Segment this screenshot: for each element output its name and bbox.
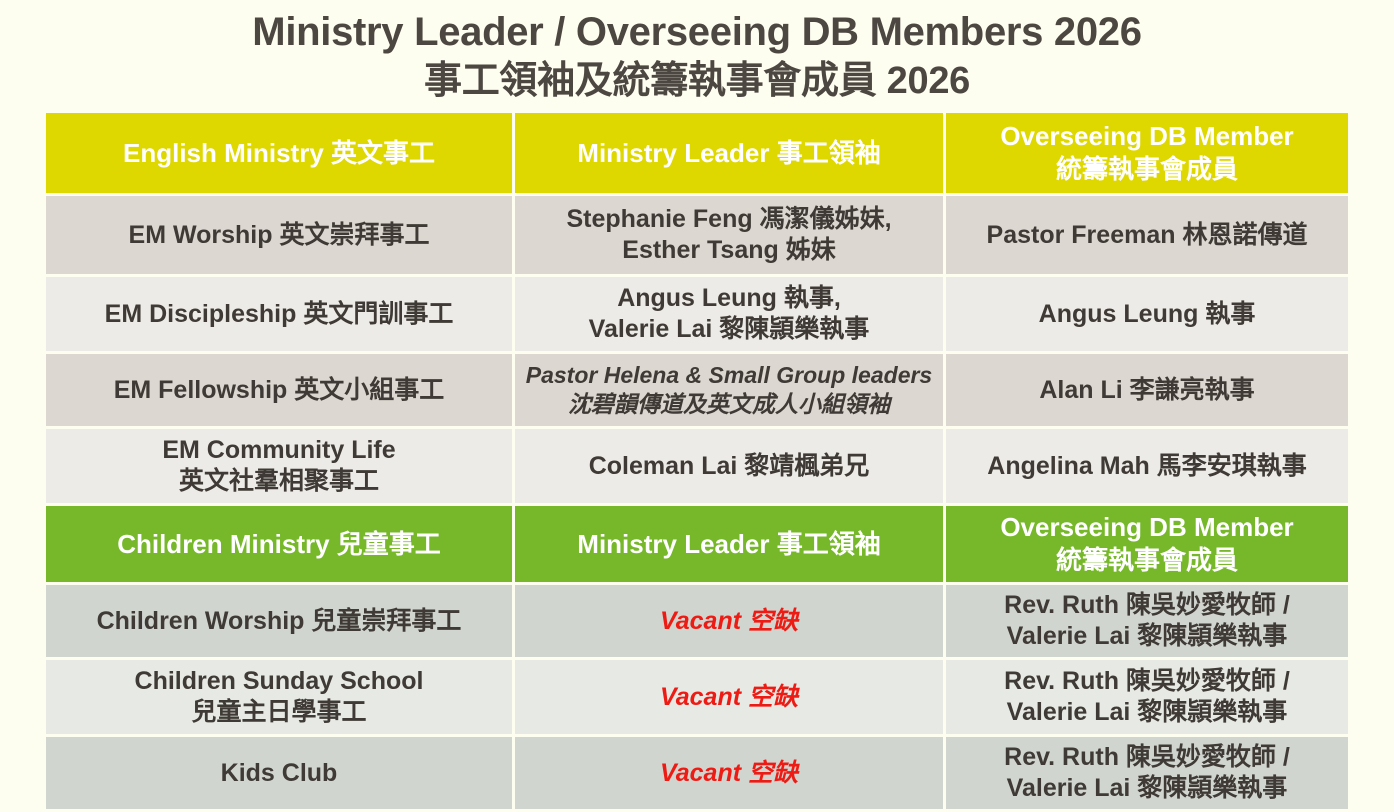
db-line-1: Rev. Ruth 陳吳妙愛牧師 / (954, 666, 1340, 697)
ministry-line-2: 兒童主日學事工 (54, 697, 504, 728)
status-badge-vacant: Vacant 空缺 (660, 607, 798, 635)
leader-line-1: Pastor Helena & Small Group leaders (523, 361, 935, 390)
table-row: EM Community Life 英文社羣相聚事工 Coleman Lai 黎… (46, 429, 1348, 503)
header-cell-ministry-leader: Ministry Leader 事工領袖 (515, 506, 943, 582)
ministry-table: English Ministry 英文事工 Ministry Leader 事工… (43, 110, 1351, 812)
leader-line-2: 沈碧韻傳道及英文成人小組領袖 (523, 390, 935, 419)
db-line-2: Valerie Lai 黎陳頴樂執事 (954, 773, 1340, 804)
cell-ministry-leader: Vacant 空缺 (515, 737, 943, 809)
leader-line-2: Esther Tsang 姊妹 (523, 235, 935, 266)
page-title-chinese: 事工領袖及統籌執事會成員 2026 (0, 58, 1394, 104)
ministry-line-1: Children Sunday School (54, 666, 504, 697)
ministry-line-1: EM Community Life (54, 435, 504, 466)
slide-canvas: Ministry Leader / Overseeing DB Members … (0, 0, 1394, 784)
leader-line-2: Valerie Lai 黎陳頴樂執事 (523, 314, 935, 345)
cell-ministry-name: Children Worship 兒童崇拜事工 (46, 585, 512, 657)
ministry-line-2: 英文社羣相聚事工 (54, 466, 504, 497)
header-cell-ministry-leader: Ministry Leader 事工領袖 (515, 113, 943, 193)
cell-db-member: Rev. Ruth 陳吳妙愛牧師 / Valerie Lai 黎陳頴樂執事 (946, 585, 1348, 657)
db-line-1: Rev. Ruth 陳吳妙愛牧師 / (954, 590, 1340, 621)
table-row: Children Worship 兒童崇拜事工 Vacant 空缺 Rev. R… (46, 585, 1348, 657)
leader-line-1: Angus Leung 執事, (523, 283, 935, 314)
table-row: EM Discipleship 英文門訓事工 Angus Leung 執事, V… (46, 277, 1348, 351)
cell-ministry-name: Children Sunday School 兒童主日學事工 (46, 660, 512, 734)
status-badge-vacant: Vacant 空缺 (660, 683, 798, 711)
cell-ministry-name: EM Worship 英文崇拜事工 (46, 196, 512, 274)
cell-ministry-leader: Stephanie Feng 馮潔儀姊妹, Esther Tsang 姊妹 (515, 196, 943, 274)
cell-db-member: Angus Leung 執事 (946, 277, 1348, 351)
header-db-line-zh: 統籌執事會成員 (954, 544, 1340, 577)
header-cell-children-ministry: Children Ministry 兒童事工 (46, 506, 512, 582)
db-line-2: Valerie Lai 黎陳頴樂執事 (954, 621, 1340, 652)
cell-db-member: Angelina Mah 馬李安琪執事 (946, 429, 1348, 503)
cell-ministry-leader: Vacant 空缺 (515, 660, 943, 734)
table-row: Kids Club Vacant 空缺 Rev. Ruth 陳吳妙愛牧師 / V… (46, 737, 1348, 809)
status-badge-vacant: Vacant 空缺 (660, 759, 798, 787)
header-db-line-en: Overseeing DB Member (954, 511, 1340, 544)
header-cell-english-ministry: English Ministry 英文事工 (46, 113, 512, 193)
english-ministry-header-row: English Ministry 英文事工 Ministry Leader 事工… (46, 113, 1348, 193)
page-title-english: Ministry Leader / Overseeing DB Members … (0, 6, 1394, 58)
cell-ministry-leader: Coleman Lai 黎靖楓弟兄 (515, 429, 943, 503)
cell-ministry-name: EM Fellowship 英文小組事工 (46, 354, 512, 426)
header-cell-overseeing-db-member: Overseeing DB Member 統籌執事會成員 (946, 113, 1348, 193)
table-row: EM Worship 英文崇拜事工 Stephanie Feng 馮潔儀姊妹, … (46, 196, 1348, 274)
cell-db-member: Pastor Freeman 林恩諾傳道 (946, 196, 1348, 274)
header-db-line-en: Overseeing DB Member (954, 120, 1340, 153)
cell-ministry-name: Kids Club (46, 737, 512, 809)
db-line-1: Rev. Ruth 陳吳妙愛牧師 / (954, 742, 1340, 773)
cell-db-member: Rev. Ruth 陳吳妙愛牧師 / Valerie Lai 黎陳頴樂執事 (946, 660, 1348, 734)
cell-ministry-name: EM Discipleship 英文門訓事工 (46, 277, 512, 351)
cell-ministry-leader: Pastor Helena & Small Group leaders 沈碧韻傳… (515, 354, 943, 426)
cell-db-member: Rev. Ruth 陳吳妙愛牧師 / Valerie Lai 黎陳頴樂執事 (946, 737, 1348, 809)
cell-ministry-leader: Angus Leung 執事, Valerie Lai 黎陳頴樂執事 (515, 277, 943, 351)
page-title: Ministry Leader / Overseeing DB Members … (0, 0, 1394, 104)
header-cell-overseeing-db-member: Overseeing DB Member 統籌執事會成員 (946, 506, 1348, 582)
table-row: Children Sunday School 兒童主日學事工 Vacant 空缺… (46, 660, 1348, 734)
cell-db-member: Alan Li 李謙亮執事 (946, 354, 1348, 426)
header-db-line-zh: 統籌執事會成員 (954, 153, 1340, 186)
children-ministry-header-row: Children Ministry 兒童事工 Ministry Leader 事… (46, 506, 1348, 582)
db-line-2: Valerie Lai 黎陳頴樂執事 (954, 697, 1340, 728)
cell-ministry-leader: Vacant 空缺 (515, 585, 943, 657)
cell-ministry-name: EM Community Life 英文社羣相聚事工 (46, 429, 512, 503)
table-row: EM Fellowship 英文小組事工 Pastor Helena & Sma… (46, 354, 1348, 426)
leader-line-1: Stephanie Feng 馮潔儀姊妹, (523, 204, 935, 235)
